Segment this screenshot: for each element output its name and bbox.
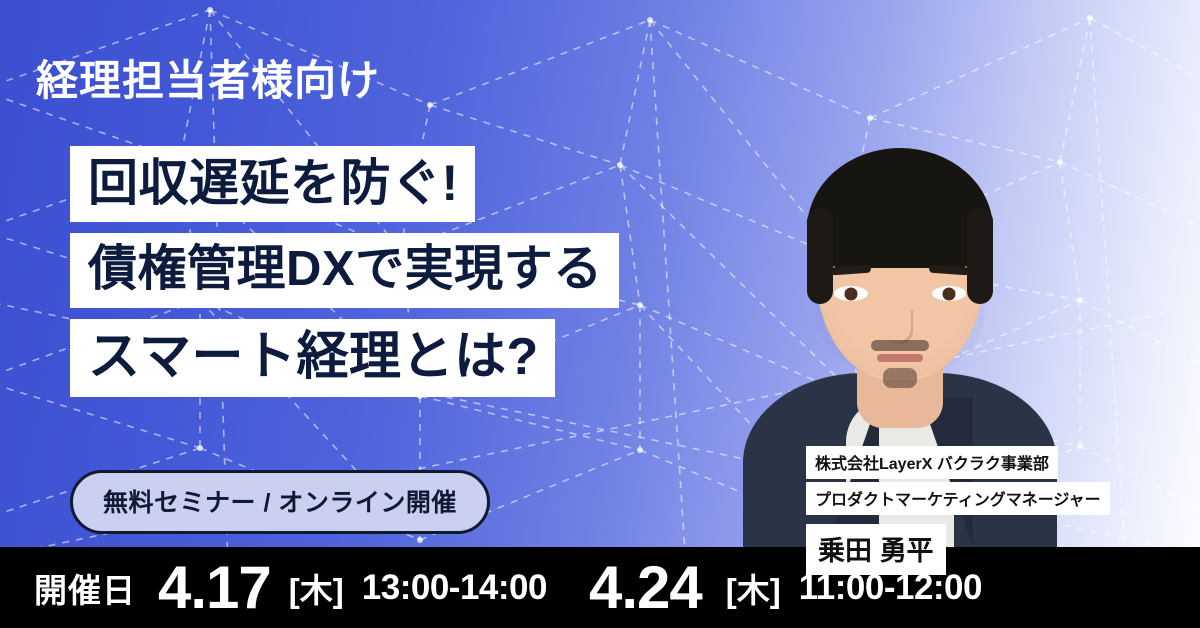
speaker-name: 乗田 勇平 xyxy=(806,524,946,575)
eye-right-shape xyxy=(932,286,966,301)
session-1-time: 13:00-14:00 xyxy=(362,568,547,608)
session-2-dayofweek: [木] xyxy=(726,564,781,612)
speaker-info: 株式会社LayerX バクラク事業部 プロダクトマーケティングマネージャー 乗田… xyxy=(806,446,1110,575)
eye-left-shape xyxy=(834,286,868,301)
headline-line-2: 債権管理DXで実現する xyxy=(70,233,619,308)
webinar-banner: 経理担当者様向け 回収遅延を防ぐ! 債権管理DXで実現する スマート経理とは? … xyxy=(0,0,1200,628)
session-2-day: 4.24 xyxy=(589,558,702,618)
speaker-role: プロダクトマーケティングマネージャー xyxy=(806,482,1110,515)
session-1-dayofweek: [木] xyxy=(289,564,344,612)
seminar-type-badge: 無料セミナー / オンライン開催 xyxy=(70,470,490,534)
kicker-text: 経理担当者様向け xyxy=(36,57,380,105)
hair-shape xyxy=(807,148,993,268)
speaker-company: 株式会社LayerX バクラク事業部 xyxy=(806,446,1058,479)
headline-line-3: スマート経理とは? xyxy=(70,319,555,397)
hair-side-left-shape xyxy=(807,208,833,304)
nose-shape xyxy=(887,310,913,344)
date-label: 開催日 xyxy=(34,564,136,612)
headline: 回収遅延を防ぐ! 債権管理DXで実現する スマート経理とは? xyxy=(70,146,619,408)
beard-shape xyxy=(883,368,917,388)
headline-line-1: 回収遅延を防ぐ! xyxy=(70,146,475,222)
session-1-day: 4.17 xyxy=(158,558,271,618)
mouth-shape xyxy=(877,354,923,362)
mustache-shape xyxy=(871,340,929,351)
hair-side-right-shape xyxy=(967,208,993,304)
